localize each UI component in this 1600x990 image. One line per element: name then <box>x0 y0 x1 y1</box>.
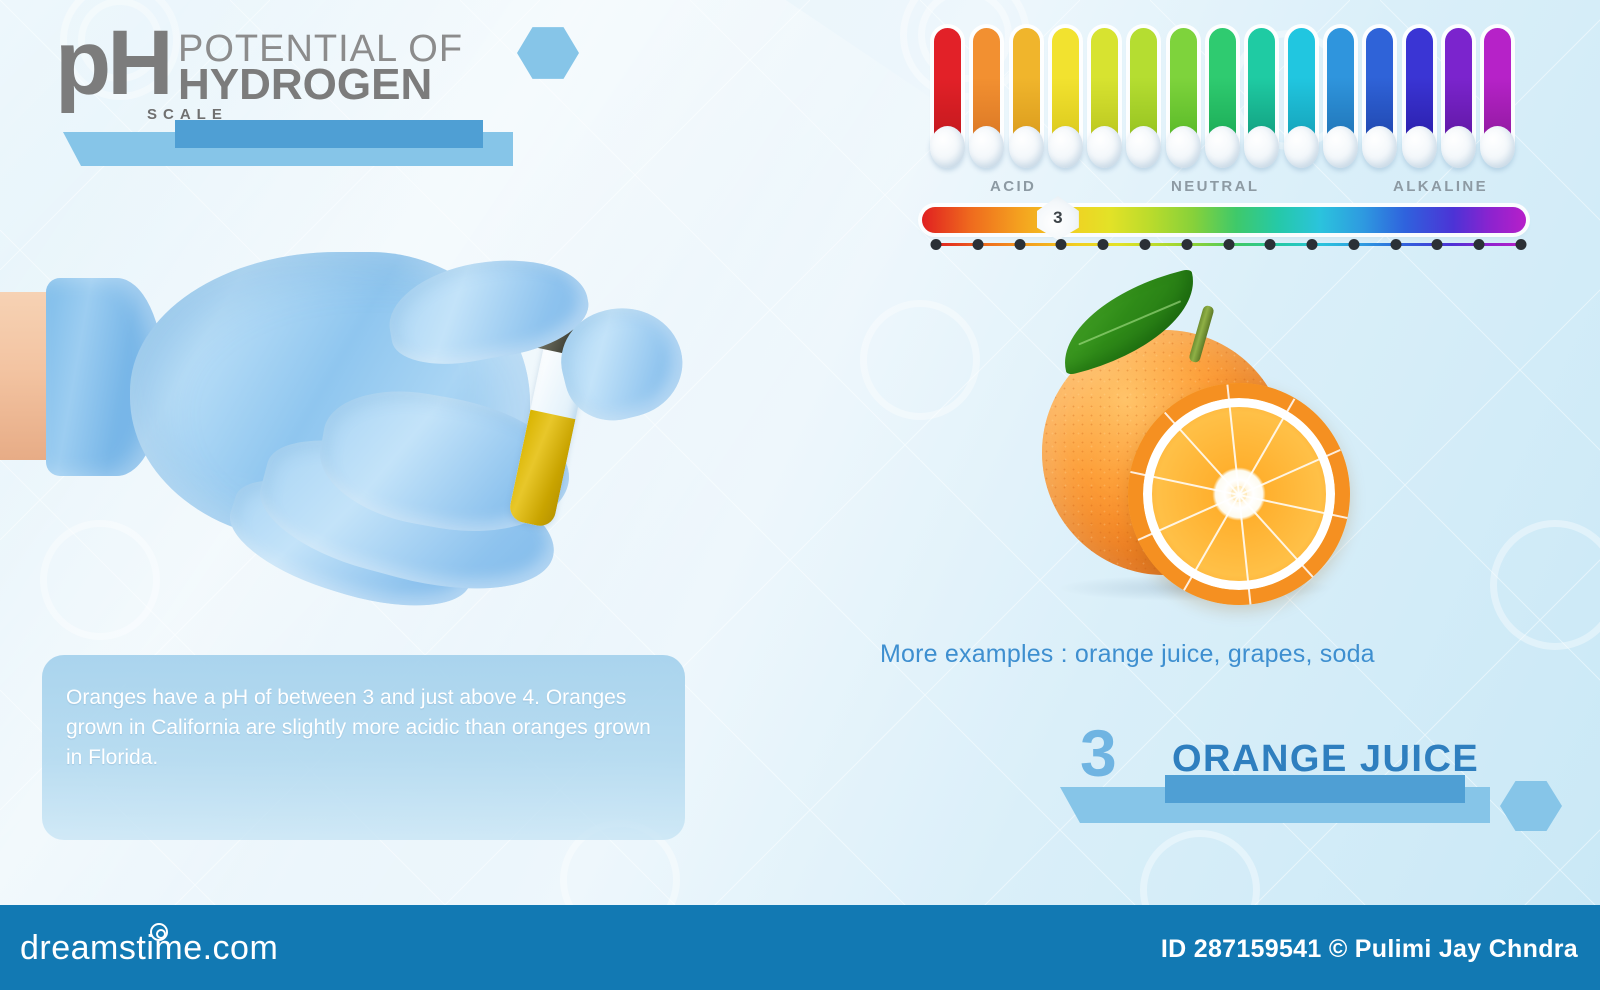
ph-bar-bulb <box>1362 126 1397 168</box>
ph-bar-bulb <box>930 126 965 168</box>
ph-tick-dot-1 <box>972 239 983 250</box>
legend-neutral: NEUTRAL <box>1171 178 1259 195</box>
ph-bar-bulb <box>1087 126 1122 168</box>
ph-bar-8 <box>1242 28 1281 168</box>
ph-bar-bulb <box>969 126 1004 168</box>
ph-bar-3 <box>1046 28 1085 168</box>
ph-bar-14 <box>1478 28 1517 168</box>
info-box: Oranges have a pH of between 3 and just … <box>42 655 685 840</box>
info-box-text: Oranges have a pH of between 3 and just … <box>66 683 659 773</box>
ph-bar-13 <box>1439 28 1478 168</box>
more-examples-text: More examples : orange juice, grapes, so… <box>880 640 1520 669</box>
legend-alkaline: ALKALINE <box>1393 178 1488 195</box>
ph-bar-9 <box>1282 28 1321 168</box>
footer-bar: dreamstime.com ID 287159541 © Pulimi Jay… <box>0 905 1600 990</box>
infographic-canvas: pH SCALE POTENTIAL OF HYDROGEN Oranges h… <box>0 0 1600 990</box>
header-line-2: HYDROGEN <box>178 63 432 107</box>
image-credit: ID 287159541 © Pulimi Jay Chndra <box>1161 935 1578 964</box>
ph-scale-legend: ACID NEUTRAL ALKALINE <box>928 178 1520 200</box>
ph-bar-bulb <box>1402 126 1437 168</box>
ph-bar-bulb <box>1323 126 1358 168</box>
ph-bar-6 <box>1164 28 1203 168</box>
ph-bar-2 <box>1007 28 1046 168</box>
hexagon-icon <box>1500 780 1562 832</box>
ph-tick-dot-6 <box>1181 239 1192 250</box>
dreamstime-logo: dreamstime.com <box>20 929 278 968</box>
ph-bar-0 <box>928 28 967 168</box>
spiral-icon <box>150 923 168 941</box>
ph-tick-dot-9 <box>1307 239 1318 250</box>
page-header: pH SCALE POTENTIAL OF HYDROGEN <box>55 18 615 148</box>
ph-slider-handle[interactable]: 3 <box>1037 196 1079 240</box>
ph-tick-axis <box>936 238 1521 252</box>
ph-tick-dot-12 <box>1432 239 1443 250</box>
watermark-spiral <box>1490 520 1600 650</box>
ph-bar-10 <box>1321 28 1360 168</box>
ph-bar-bulb <box>1048 126 1083 168</box>
orange-half-slice <box>1128 383 1350 605</box>
ph-bar-bulb <box>1126 126 1161 168</box>
ph-bar-bulb <box>1284 126 1319 168</box>
ph-tick-dot-14 <box>1516 239 1527 250</box>
ph-bar-11 <box>1360 28 1399 168</box>
ph-slider-track[interactable] <box>922 207 1526 233</box>
result-banner-dark <box>1165 775 1465 803</box>
ph-tick-dot-5 <box>1139 239 1150 250</box>
header-banner-dark <box>175 120 483 148</box>
ph-tick-dot-11 <box>1390 239 1401 250</box>
result-substance-name: ORANGE JUICE <box>1172 740 1479 778</box>
header-banner <box>55 118 600 173</box>
ph-tick-dot-10 <box>1348 239 1359 250</box>
ph-tick-dot-2 <box>1014 239 1025 250</box>
result-ph-number: 3 <box>1080 720 1117 786</box>
ph-slider[interactable]: 3 <box>922 205 1526 235</box>
ph-bar-5 <box>1124 28 1163 168</box>
ph-bar-7 <box>1203 28 1242 168</box>
ph-bar-bulb <box>1009 126 1044 168</box>
ph-bar-1 <box>967 28 1006 168</box>
orange-illustration <box>1020 275 1370 625</box>
ph-logo: pH <box>55 20 170 107</box>
ph-bar-4 <box>1085 28 1124 168</box>
ph-tick-dot-13 <box>1474 239 1485 250</box>
ph-bar-bulb <box>1244 126 1279 168</box>
watermark-spiral <box>860 300 980 420</box>
result-title: 3 ORANGE JUICE <box>1060 725 1580 845</box>
legend-acid: ACID <box>990 178 1036 195</box>
gloved-hand-illustration <box>0 230 750 650</box>
ph-bar-12 <box>1400 28 1439 168</box>
ph-tick-dot-4 <box>1098 239 1109 250</box>
ph-tick-dot-8 <box>1265 239 1276 250</box>
ph-tick-dot-3 <box>1056 239 1067 250</box>
ph-tick-dot-0 <box>931 239 942 250</box>
ph-bar-bulb <box>1166 126 1201 168</box>
ph-tick-dot-7 <box>1223 239 1234 250</box>
hexagon-icon <box>517 26 579 80</box>
ph-bar-chart <box>928 28 1518 168</box>
ph-bar-bulb <box>1205 126 1240 168</box>
ph-bar-bulb <box>1441 126 1476 168</box>
ph-bar-bulb <box>1480 126 1515 168</box>
